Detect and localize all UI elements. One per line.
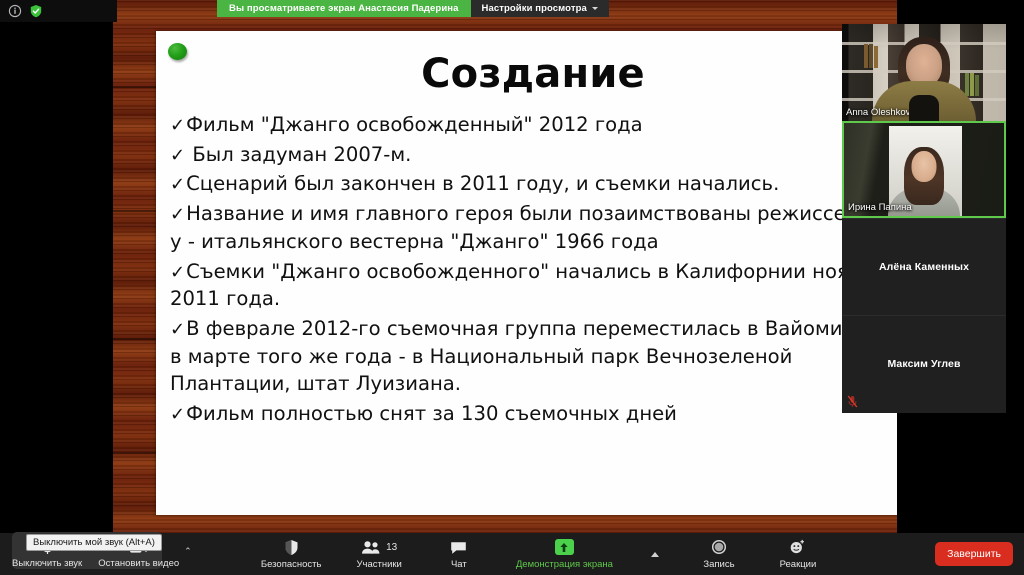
end-meeting-button[interactable]: Завершить xyxy=(935,542,1013,566)
toolbar-center-group: Безопасность 13 Участники Чат xyxy=(192,537,935,572)
record-circle-icon xyxy=(711,539,727,556)
toolbar-right-group: Завершить xyxy=(935,542,1024,566)
chevron-down-icon xyxy=(592,7,598,10)
shield-icon xyxy=(284,539,299,556)
reactions-button-label: Реакции xyxy=(780,559,817,570)
list-item-text: Был задуман 2007-м. xyxy=(186,143,411,166)
stop-video-button-label: Остановить видео xyxy=(98,558,179,569)
status-icons-bar xyxy=(0,0,117,22)
participant-tile[interactable]: Ирина Папина xyxy=(842,121,1006,218)
list-item: ✓Название и имя главного героя были поза… xyxy=(170,200,896,255)
chat-bubble-icon xyxy=(450,539,467,556)
presentation-slide: Создание ✓Фильм "Джанго освобожденный" 2… xyxy=(156,31,897,515)
record-button-label: Запись xyxy=(703,559,734,570)
list-item: ✓Фильм полностью снят за 130 съемочных д… xyxy=(170,400,896,428)
participant-tile[interactable]: Максим Углев xyxy=(842,315,1006,412)
list-item: ✓ Был задуман 2007-м. xyxy=(170,141,896,169)
share-screen-button[interactable]: Демонстрация экрана xyxy=(512,537,617,572)
smiley-plus-icon xyxy=(789,539,806,556)
toolbar-left-group: Выключить звук Остановить видео ⌃ Выключ… xyxy=(0,537,192,571)
check-icon: ✓ xyxy=(170,115,185,136)
slide-bullet-list: ✓Фильм "Джанго освобожденный" 2012 года … xyxy=(156,111,897,428)
chat-button[interactable]: Чат xyxy=(433,537,485,572)
participant-tile[interactable]: Anna Oleshkova xyxy=(842,24,1006,121)
list-item: ✓Съемки "Джанго освобожденного" начались… xyxy=(170,258,896,313)
list-item-text: Название и имя главного героя были позаи… xyxy=(170,202,891,253)
participant-name: Anna Oleshkova xyxy=(846,107,916,118)
check-icon: ✓ xyxy=(170,319,185,340)
check-icon: ✓ xyxy=(170,145,185,166)
participants-count: 13 xyxy=(386,542,397,553)
check-icon: ✓ xyxy=(170,204,185,225)
participants-button-label: Участники xyxy=(356,559,401,570)
view-options-button[interactable]: Настройки просмотра xyxy=(471,0,609,17)
shared-screen-area: Создание ✓Фильм "Джанго освобожденный" 2… xyxy=(113,0,897,533)
participant-name: Максим Углев xyxy=(887,358,960,370)
slide-title: Создание xyxy=(156,31,897,97)
view-options-label: Настройки просмотра xyxy=(482,3,587,14)
participant-name: Алёна Каменных xyxy=(879,261,969,273)
check-icon: ✓ xyxy=(170,262,185,283)
participant-tile[interactable]: Алёна Каменных xyxy=(842,218,1006,315)
share-banner-message: Вы просматриваете экран Анастасия Падери… xyxy=(217,0,471,17)
list-item-text: Сценарий был закончен в 2011 году, и съе… xyxy=(186,172,779,195)
list-item-text: Съемки "Джанго освобожденного" начались … xyxy=(170,260,892,311)
participants-panel: Anna Oleshkova Ирина Папина Алёна Каменн… xyxy=(842,24,1006,413)
security-button-label: Безопасность xyxy=(261,559,322,570)
reactions-button[interactable]: Реакции xyxy=(772,537,824,572)
screen-share-banner: Вы просматриваете экран Анастасия Падери… xyxy=(217,0,609,17)
list-item-text: Фильм полностью снят за 130 съемочных дн… xyxy=(186,402,677,425)
mute-button-label: Выключить звук xyxy=(12,558,82,569)
list-item-text: В феврале 2012-го съемочная группа перем… xyxy=(170,317,896,395)
list-item: ✓В феврале 2012-го съемочная группа пере… xyxy=(170,315,896,398)
meeting-toolbar: Выключить звук Остановить видео ⌃ Выключ… xyxy=(0,533,1024,575)
chevron-up-icon xyxy=(651,546,659,563)
participants-button[interactable]: 13 Участники xyxy=(352,537,405,572)
record-button[interactable]: Запись xyxy=(693,537,745,572)
participant-name: Ирина Папина xyxy=(848,202,912,213)
people-icon: 13 xyxy=(361,539,397,556)
list-item: ✓Фильм "Джанго освобожденный" 2012 года xyxy=(170,111,896,139)
share-screen-button-label: Демонстрация экрана xyxy=(516,559,613,570)
list-item: ✓Сценарий был закончен в 2011 году, и съ… xyxy=(170,170,896,198)
chat-button-label: Чат xyxy=(451,559,467,570)
mute-tooltip: Выключить мой звук (Alt+A) xyxy=(26,534,162,551)
chevron-up-icon[interactable]: ⌃ xyxy=(184,546,192,571)
microphone-muted-icon xyxy=(847,395,858,408)
info-icon[interactable] xyxy=(7,4,22,19)
shield-icon[interactable] xyxy=(28,4,43,19)
share-screen-up-arrow-icon xyxy=(555,539,574,556)
check-icon: ✓ xyxy=(170,174,185,195)
security-button[interactable]: Безопасность xyxy=(257,537,326,572)
share-options-button[interactable] xyxy=(644,544,666,565)
green-dot-marker-icon xyxy=(168,43,187,60)
list-item-text: Фильм "Джанго освобожденный" 2012 года xyxy=(186,113,643,136)
check-icon: ✓ xyxy=(170,404,185,425)
